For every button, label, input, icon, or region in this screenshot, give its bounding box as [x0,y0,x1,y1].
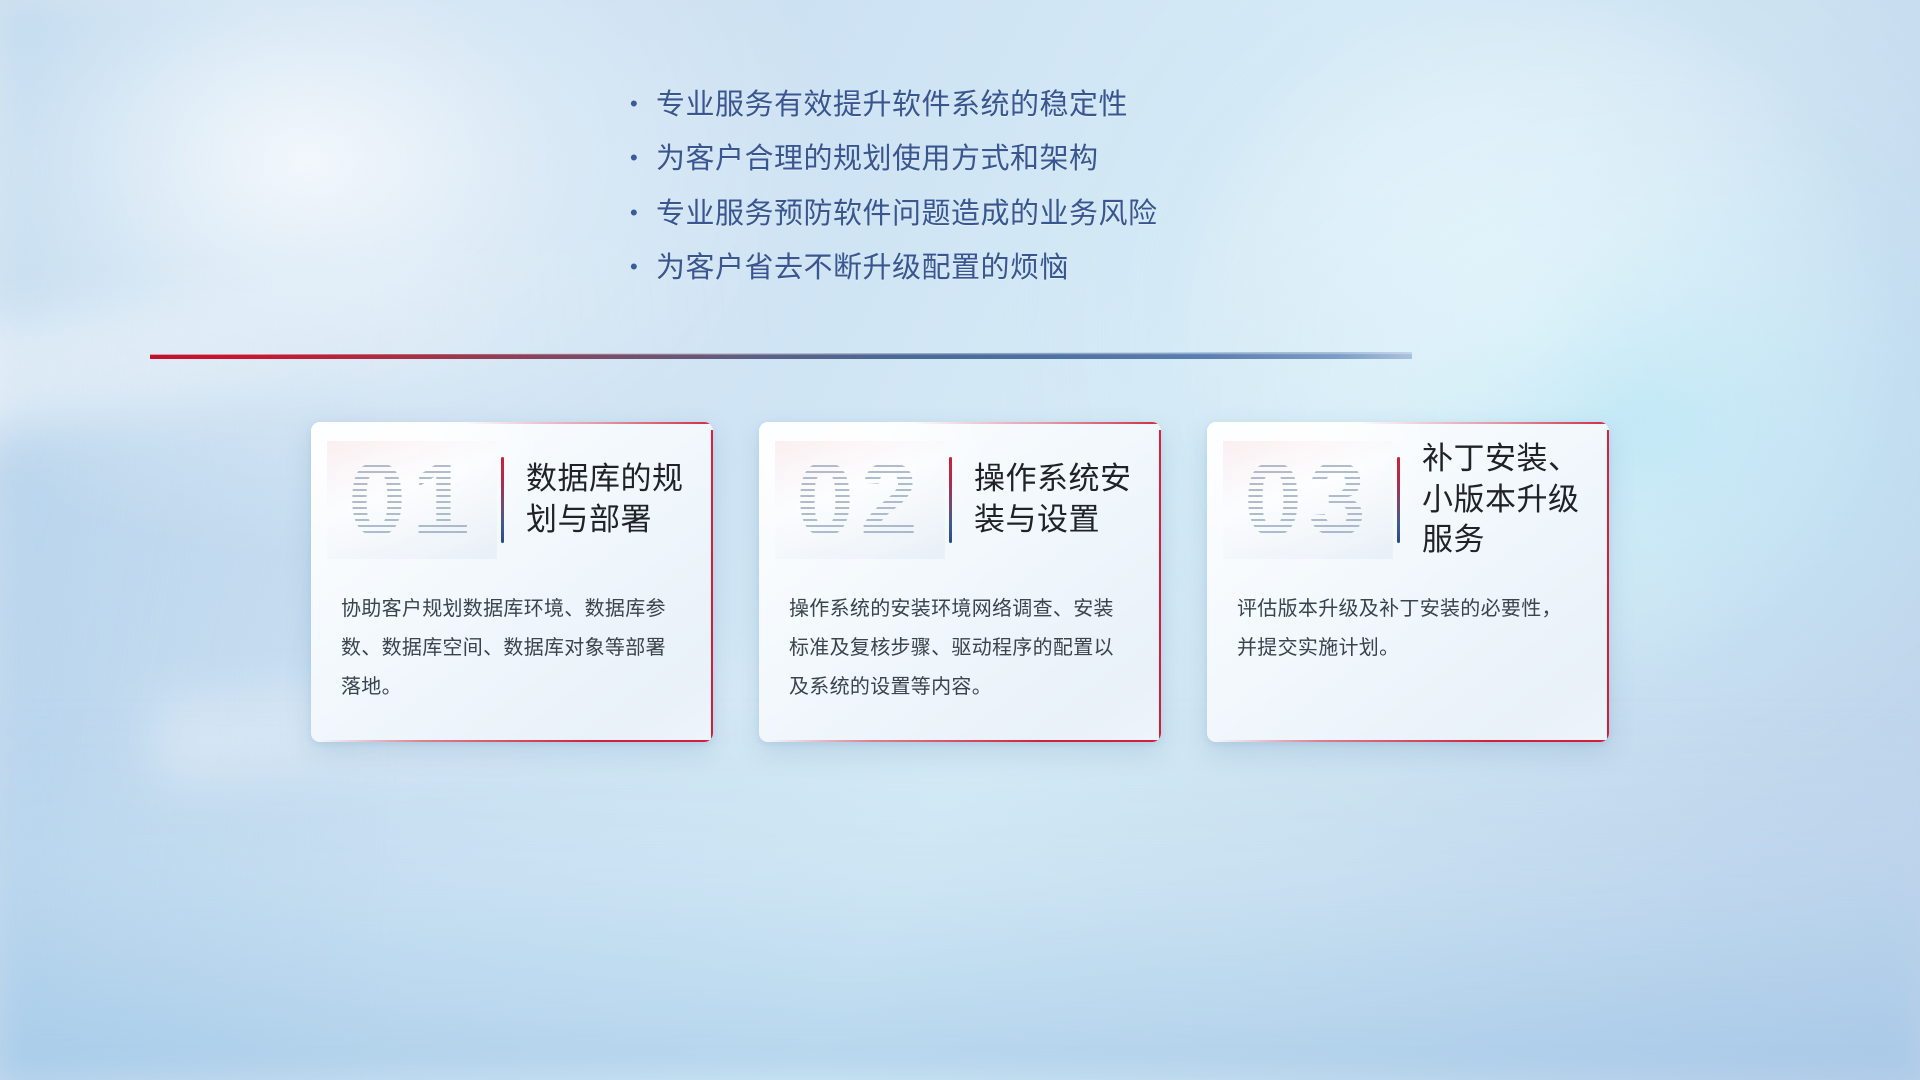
benefits-bullet-list: • 专业服务有效提升软件系统的稳定性 • 为客户合理的规划使用方式和架构 • 专… [0,88,1920,306]
card-title: 操作系统安装与设置 [974,459,1161,541]
card-number-watermark: 01 [327,441,497,559]
card-accent-divider [949,457,952,543]
list-item: • 为客户省去不断升级配置的烦恼 [630,251,1290,286]
card-accent-divider [1397,457,1400,543]
card-number-text: 02 [775,441,945,559]
list-item: • 专业服务预防软件问题造成的业务风险 [630,197,1290,232]
service-card-01[interactable]: 01 数据库的规划与部署 协助客户规划数据库环境、数据库参数、数据库空间、数据库… [311,422,713,742]
list-item: • 专业服务有效提升软件系统的稳定性 [630,88,1290,123]
card-title: 补丁安装、小版本升级服务 [1422,439,1609,562]
card-number-watermark: 03 [1223,441,1393,559]
card-number-watermark: 02 [775,441,945,559]
list-item: • 为客户合理的规划使用方式和架构 [630,142,1290,177]
card-body-text: 评估版本升级及补丁安装的必要性，并提交实施计划。 [1207,578,1609,668]
card-title: 数据库的规划与部署 [526,459,713,541]
bullet-point-icon: • [630,256,656,278]
card-edge-bottom [321,740,713,742]
card-header: 02 操作系统安装与设置 [759,422,1161,578]
card-header: 01 数据库的规划与部署 [311,422,713,578]
card-accent-divider [501,457,504,543]
bullet-text: 为客户合理的规划使用方式和架构 [656,142,1099,177]
card-edge-bottom [769,740,1161,742]
bullet-point-icon: • [630,93,656,115]
bullet-point-icon: • [630,202,656,224]
service-card-02[interactable]: 02 操作系统安装与设置 操作系统的安装环境网络调查、安装标准及复核步骤、驱动程… [759,422,1161,742]
bullet-text: 专业服务预防软件问题造成的业务风险 [656,197,1158,232]
card-header: 03 补丁安装、小版本升级服务 [1207,422,1609,578]
service-card-03[interactable]: 03 补丁安装、小版本升级服务 评估版本升级及补丁安装的必要性，并提交实施计划。 [1207,422,1609,742]
bullet-text: 专业服务有效提升软件系统的稳定性 [656,88,1128,123]
card-edge-bottom [1217,740,1609,742]
service-card-row: 01 数据库的规划与部署 协助客户规划数据库环境、数据库参数、数据库空间、数据库… [0,422,1920,742]
card-number-text: 03 [1223,441,1393,559]
card-body-text: 操作系统的安装环境网络调查、安装标准及复核步骤、驱动程序的配置以及系统的设置等内… [759,578,1161,707]
card-body-text: 协助客户规划数据库环境、数据库参数、数据库空间、数据库对象等部署落地。 [311,578,713,707]
bullet-text: 为客户省去不断升级配置的烦恼 [656,251,1069,286]
bullet-point-icon: • [630,147,656,169]
section-divider [150,348,1412,364]
card-number-text: 01 [327,441,497,559]
